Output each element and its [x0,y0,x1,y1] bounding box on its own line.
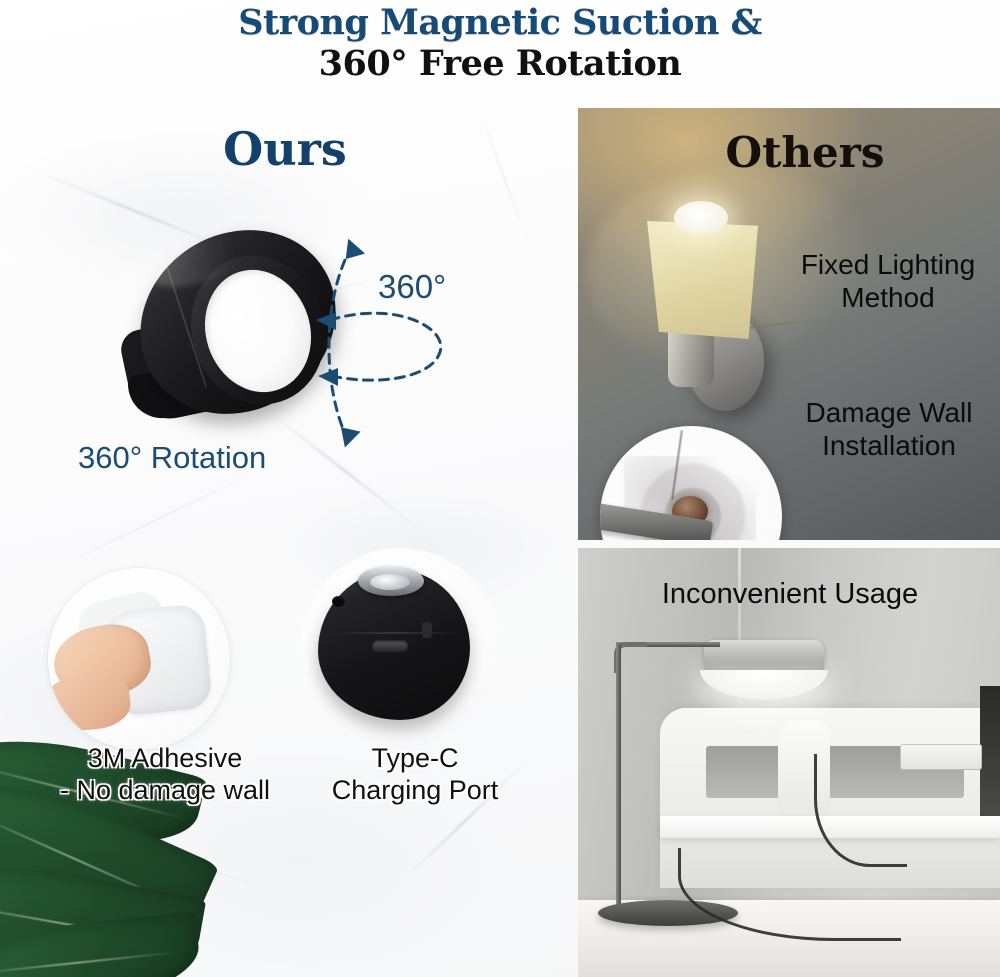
rotation-arrows-icon [300,228,500,458]
infographic-canvas: Strong Magnetic Suction & 360° Free Rota… [0,0,1000,977]
sconce-bulb [674,201,728,235]
wall-socket [900,744,982,770]
others-title: Others [690,128,920,177]
charging-caption-line-1: Type-C [371,743,458,773]
adhesive-caption: 3M Adhesive - No damage wall [20,742,310,806]
damage-wall-label: Damage Wall Installation [780,396,998,462]
headline-line-2: 360° Free Rotation [0,43,1000,85]
damage-wall-line-1: Damage Wall [805,397,972,428]
adhesive-caption-line-2: - No damage wall [60,775,270,805]
headline-line-1: Strong Magnetic Suction & [0,0,1000,43]
sconce-shade [640,221,758,339]
product-chrome-inner [370,574,410,590]
others-inconvenient-usage-panel [578,548,1000,977]
dark-side-panel [980,686,1000,816]
headline: Strong Magnetic Suction & 360° Free Rota… [0,0,1000,85]
adhesive-caption-line-1: 3M Adhesive [88,743,243,773]
marble-vein [51,470,258,572]
product-rear-body [318,570,470,720]
arrowhead-left-lower-icon [318,368,338,386]
finger-lower [48,670,133,735]
arrowhead-left-upper-icon [316,312,336,330]
product-seam-band [326,632,466,634]
product-sensor-dot [332,596,345,607]
ours-title: Ours [160,122,410,176]
desk-lamp-post [616,644,621,912]
rotation-diagram [300,228,500,458]
adhesive-inset-image [48,568,230,750]
fixed-lighting-label: Fixed Lighting Method [772,248,1000,314]
fixed-lighting-line-2: Method [841,282,934,313]
product-side-knob [422,622,432,638]
charging-port-caption: Type-C Charging Port [300,742,530,806]
arrowhead-down-icon [335,425,360,450]
rotation-caption: 360° Rotation [78,440,266,476]
arrowhead-up-icon [339,235,365,261]
charging-port-inset-image [300,548,500,748]
damage-wall-line-2: Installation [822,430,956,461]
inconvenient-usage-label: Inconvenient Usage [620,578,960,611]
charging-caption-line-2: Charging Port [332,775,499,805]
rotation-degrees-label: 360° [378,268,446,306]
desk-lamp-lens [700,670,828,700]
fixed-lighting-line-1: Fixed Lighting [801,249,975,280]
usb-c-port-icon [372,640,408,651]
